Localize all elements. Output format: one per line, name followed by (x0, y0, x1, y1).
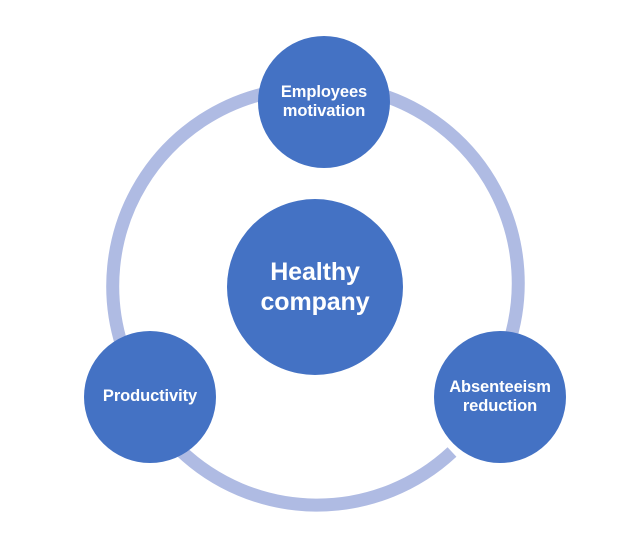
ring-arc-bottom (180, 450, 452, 505)
center-node-label-line2: company (260, 288, 369, 316)
node-absenteeism-reduction-label-line1: Absenteeism (449, 378, 551, 396)
diagram-canvas: Healthycompany Employeesmotivation Produ… (0, 0, 620, 538)
node-absenteeism-reduction[interactable]: Absenteeismreduction (434, 331, 566, 463)
node-productivity-label: Productivity (103, 387, 197, 406)
center-node-label-line1: Healthy (270, 258, 360, 286)
node-absenteeism-reduction-label-line2: reduction (463, 397, 537, 415)
node-productivity[interactable]: Productivity (84, 331, 216, 463)
node-employees-motivation[interactable]: Employeesmotivation (258, 36, 390, 168)
center-node-label: Healthycompany (260, 257, 369, 318)
node-employees-motivation-label-line1: Employees (281, 83, 367, 101)
node-productivity-label-line1: Productivity (103, 387, 197, 405)
center-node-healthy-company[interactable]: Healthycompany (227, 199, 403, 375)
node-employees-motivation-label: Employeesmotivation (281, 83, 367, 122)
node-employees-motivation-label-line2: motivation (283, 102, 365, 120)
node-absenteeism-reduction-label: Absenteeismreduction (434, 378, 566, 417)
